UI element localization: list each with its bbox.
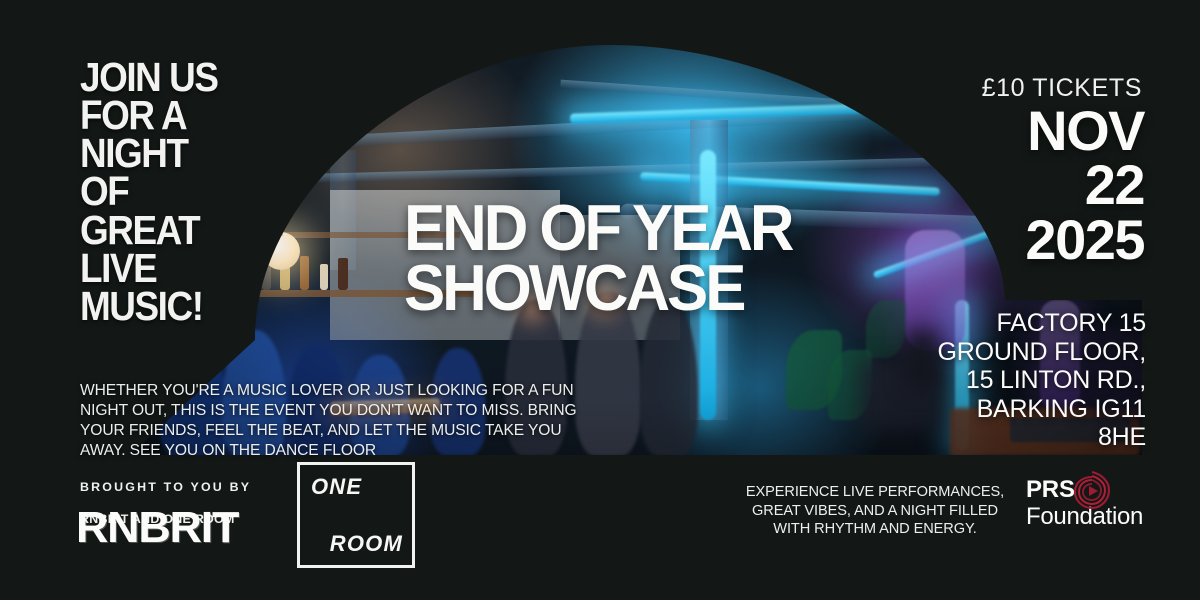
one-room-logo-top: ONE [311, 474, 362, 500]
one-room-logo: ONE ROOM [297, 462, 415, 568]
venue-address: FACTORY 15 GROUND FLOOR, 15 LINTON RD., … [816, 309, 1146, 452]
event-poster: JOIN US FOR A NIGHT OF GREAT LIVE MUSIC!… [0, 0, 1200, 600]
brought-by-line-1: BROUGHT TO YOU BY [80, 479, 295, 495]
event-date: NOV 22 2025 [884, 104, 1144, 267]
event-description: WHETHER YOU'RE A MUSIC LOVER OR JUST LOO… [80, 381, 600, 461]
pendant-cord [280, 160, 283, 236]
join-us-headline: JOIN US FOR A NIGHT OF GREAT LIVE MUSIC! [80, 58, 251, 325]
rnbrit-logo: RNBRIT [76, 503, 238, 553]
prs-foundation-logo: PRS Foundation [1026, 474, 1156, 540]
page-title: END OF YEAR SHOWCASE [404, 198, 851, 318]
one-room-logo-bottom: ROOM [330, 531, 403, 557]
prs-spiral-mark-icon [1070, 468, 1112, 510]
prs-logo-primary: PRS [1026, 476, 1075, 504]
event-tagline: EXPERIENCE LIVE PERFORMANCES, GREAT VIBE… [730, 483, 1020, 539]
